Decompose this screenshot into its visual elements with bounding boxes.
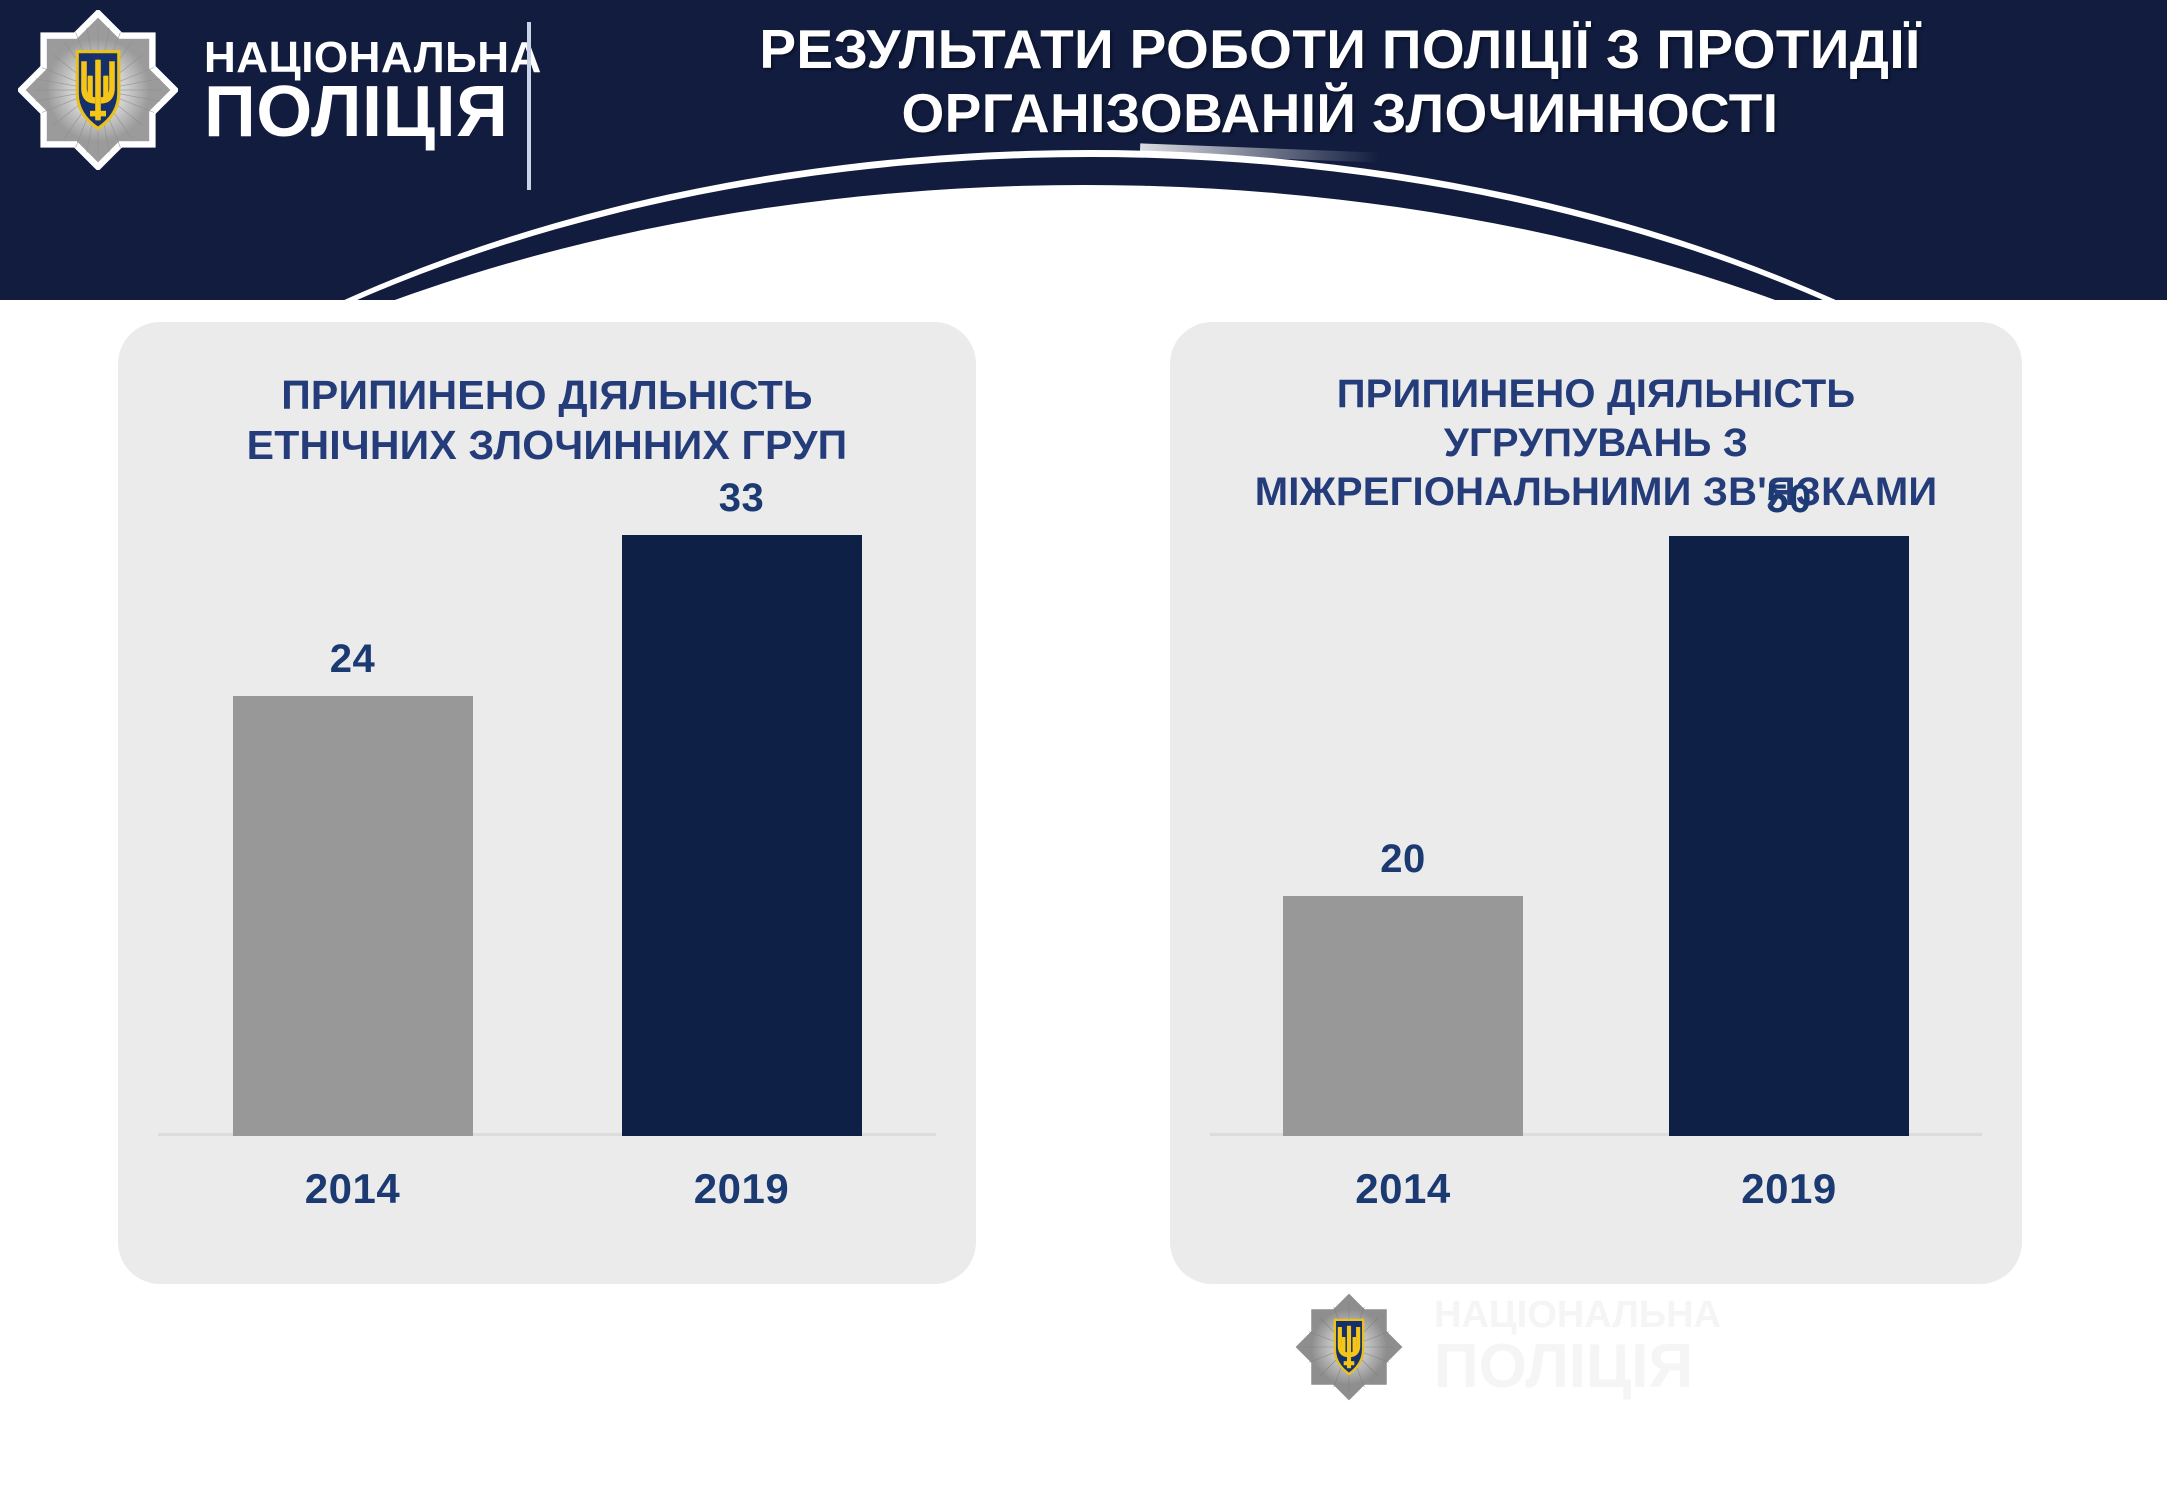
chart-title-ethnic-groups: ПРИПИНЕНО ДІЯЛЬНІСТЬ ЕТНІЧНИХ ЗЛОЧИННИХ … [118,370,976,470]
bar-value-label: 33 [719,476,765,521]
bar-value-label: 20 [1380,837,1426,882]
chart-title-line-1: ПРИПИНЕНО ДІЯЛЬНІСТЬ [1192,370,2000,419]
watermark-line-2: ПОЛІЦІЯ [1434,1336,1721,1398]
chart-plot-ethnic-groups: 24 33 2014 2019 [158,572,936,1236]
chart-bars: 24 33 [158,476,936,1136]
chart-x-axis-labels: 2014 2019 [1210,1154,1982,1224]
x-label-2014: 2014 [1283,1165,1523,1213]
bar-value-label: 24 [330,637,376,682]
national-police-star-emblem-icon [18,10,178,170]
brand-lockup: НАЦІОНАЛЬНА ПОЛІЦІЯ [18,10,542,170]
brand-divider [527,22,531,190]
x-label-2019: 2019 [622,1165,862,1213]
slide-root: НАЦІОНАЛЬНА ПОЛІЦІЯ РЕЗУЛЬТАТИ РОБОТИ ПО… [0,0,2167,1500]
bar-group-2014: 24 [233,476,473,1136]
chart-bars: 20 50 [1210,476,1982,1136]
bar-group-2019: 50 [1669,476,1909,1136]
brand-wordmark: НАЦІОНАЛЬНА ПОЛІЦІЯ [204,32,542,148]
chart-title-line-2: УГРУПУВАНЬ З [1192,419,2000,468]
bar-2014[interactable] [1283,896,1523,1136]
chart-title-line-2: ЕТНІЧНИХ ЗЛОЧИННИХ ГРУП [140,420,954,470]
chart-card-ethnic-groups: ПРИПИНЕНО ДІЯЛЬНІСТЬ ЕТНІЧНИХ ЗЛОЧИННИХ … [118,322,976,1284]
x-label-2019: 2019 [1669,1165,1909,1213]
watermark-line-1: НАЦІОНАЛЬНА [1434,1296,1721,1334]
bar-group-2019: 33 [622,476,862,1136]
chart-card-interregional-groups: ПРИПИНЕНО ДІЯЛЬНІСТЬ УГРУПУВАНЬ З МІЖРЕГ… [1170,322,2022,1284]
watermark-wordmark: НАЦІОНАЛЬНА ПОЛІЦІЯ [1434,1296,1721,1398]
chart-plot-interregional-groups: 20 50 2014 2019 [1210,572,1982,1236]
page-title: РЕЗУЛЬТАТИ РОБОТИ ПОЛІЦІЇ З ПРОТИДІЇ ОРГ… [560,18,2120,146]
chart-title-line-1: ПРИПИНЕНО ДІЯЛЬНІСТЬ [140,370,954,420]
bar-2019[interactable] [1669,536,1909,1136]
header-arc-cutout [0,185,2167,300]
bar-2019[interactable] [622,535,862,1136]
watermark-star-emblem-icon [1290,1288,1408,1406]
bar-2014[interactable] [233,696,473,1136]
bar-value-label: 50 [1766,477,1812,522]
bar-group-2014: 20 [1283,476,1523,1136]
chart-x-axis-labels: 2014 2019 [158,1154,936,1224]
footer-watermark: НАЦІОНАЛЬНА ПОЛІЦІЯ [1290,1288,1721,1406]
brand-line-2: ПОЛІЦІЯ [204,77,542,148]
page-title-line-2: ОРГАНІЗОВАНІЙ ЗЛОЧИННОСТІ [560,82,2120,146]
page-title-line-1: РЕЗУЛЬТАТИ РОБОТИ ПОЛІЦІЇ З ПРОТИДІЇ [560,18,2120,82]
x-label-2014: 2014 [233,1165,473,1213]
